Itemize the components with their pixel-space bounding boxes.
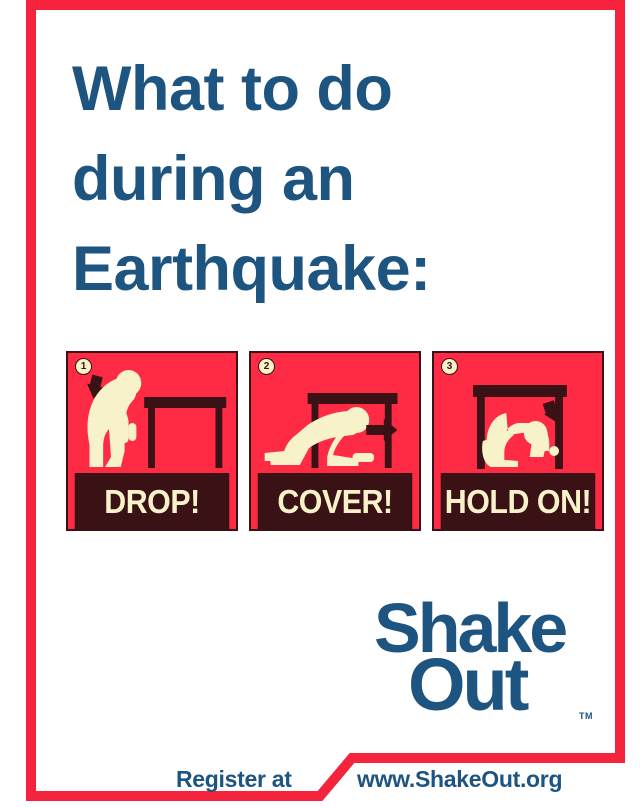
register-label: Register at	[176, 766, 292, 793]
step-label-hold-on: HOLD ON!	[441, 473, 596, 529]
headline-line-3: Earthquake:	[72, 224, 572, 314]
shakeout-logo-art: Shake Out	[370, 588, 585, 723]
headline-line-2: during an	[72, 134, 572, 224]
person-holding-table-leg-icon	[434, 353, 602, 473]
step-label-drop: DROP!	[75, 473, 230, 529]
shakeout-logo: Shake Out TM	[370, 588, 585, 723]
step-panel-cover: 2	[249, 351, 421, 531]
logo-word-out: Out	[408, 643, 529, 723]
shakeout-poster: What to do during an Earthquake: 1	[0, 0, 640, 807]
step-panel-hold-on: 3	[432, 351, 604, 531]
headline-line-1: What to do	[72, 44, 572, 134]
drop-cover-hold-panels: 1	[66, 351, 604, 531]
step-panel-drop: 1	[66, 351, 238, 531]
page-title: What to do during an Earthquake:	[72, 44, 572, 314]
step-badge-1: 1	[75, 358, 92, 375]
person-crouching-beside-table-icon	[68, 353, 236, 473]
person-crawling-under-table-icon	[251, 353, 419, 473]
trademark-symbol: TM	[579, 711, 593, 721]
step-badge-2: 2	[258, 358, 275, 375]
shakeout-website-link[interactable]: www.ShakeOut.org	[357, 766, 562, 793]
step-badge-3: 3	[441, 358, 458, 375]
step-label-cover: COVER!	[258, 473, 413, 529]
